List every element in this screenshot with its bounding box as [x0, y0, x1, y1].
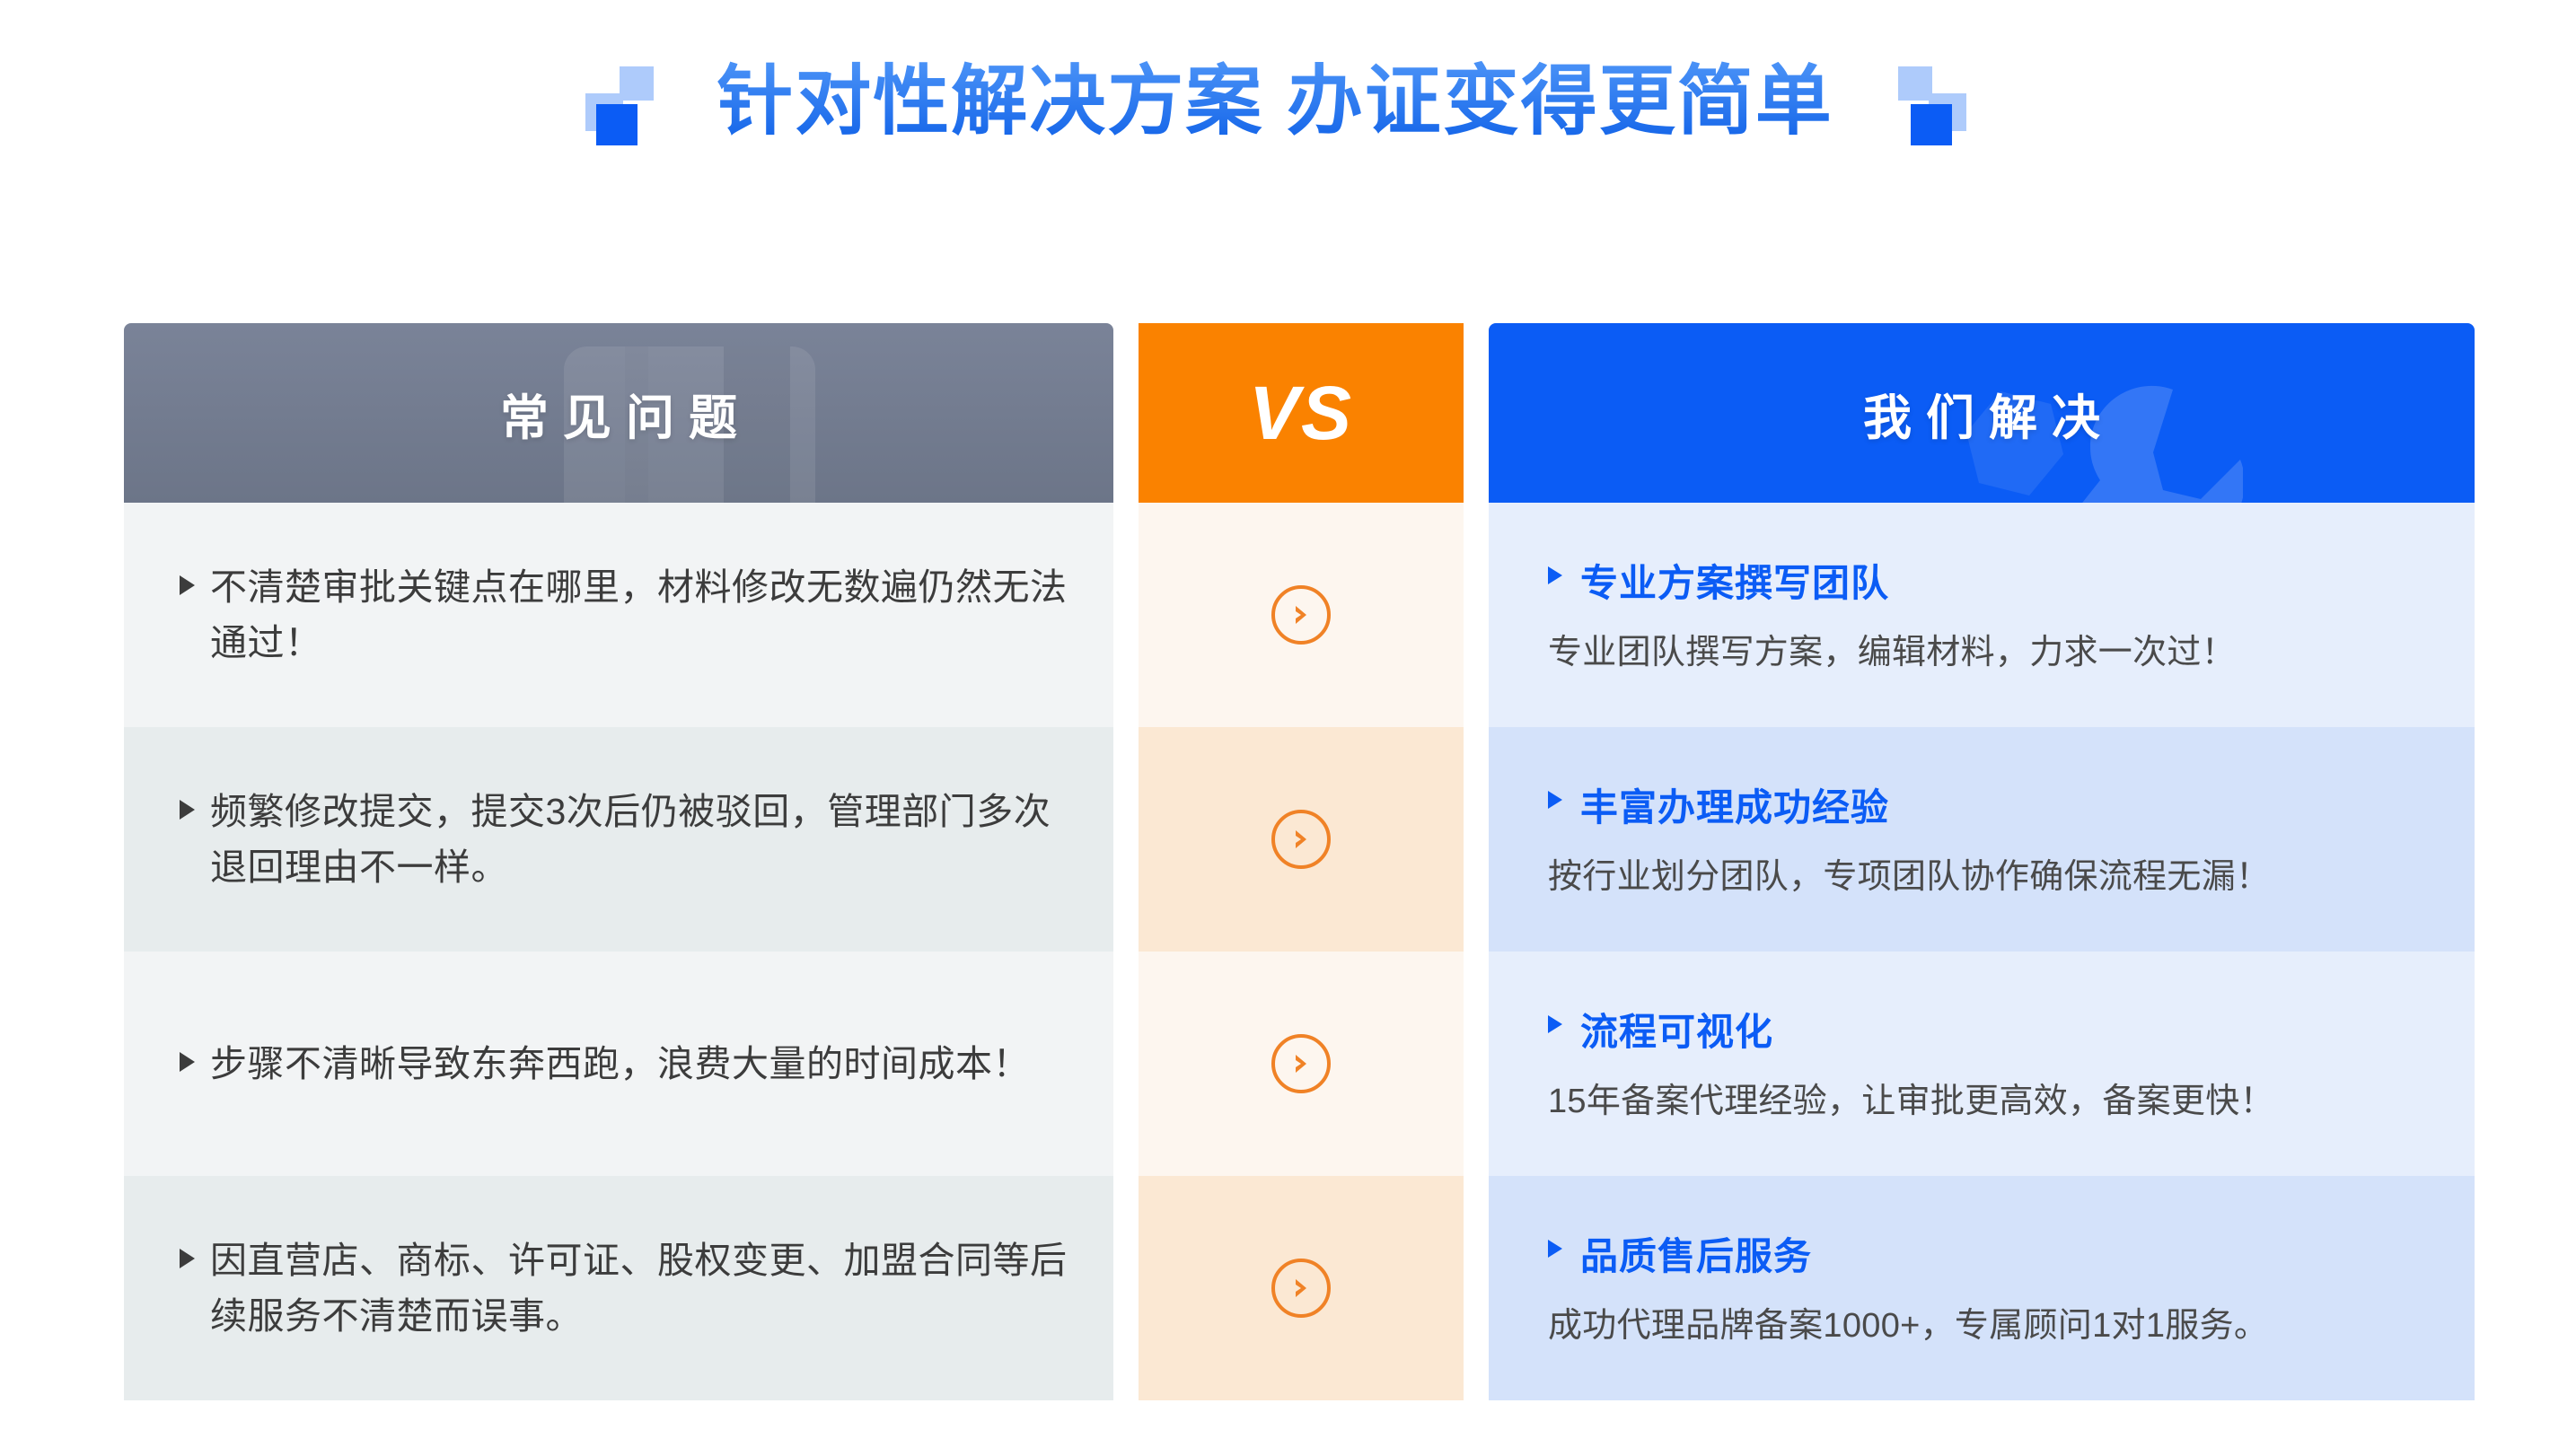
problem-row-text: 不清楚审批关键点在哪里，材料修改无数遍仍然无法通过！ — [180, 559, 1072, 671]
solution-column-header-label: 我们解决 — [1849, 378, 2115, 449]
vs-row — [1139, 727, 1464, 952]
vs-column: VS — [1139, 323, 1464, 1400]
decor-square-pale-a — [1898, 66, 1932, 101]
problem-column-header-label: 常见问题 — [486, 378, 752, 449]
vs-label: VS — [1249, 370, 1353, 457]
problem-row: 频繁修改提交，提交3次后仍被驳回，管理部门多次退回理由不一样。 — [124, 727, 1113, 952]
chevron-right-circle-icon[interactable] — [1271, 585, 1331, 645]
vs-row — [1139, 1176, 1464, 1400]
problem-column-header: 常见问题 — [124, 323, 1113, 503]
comparison-table: 常见问题 不清楚审批关键点在哪里，材料修改无数遍仍然无法通过！ 频繁修改提交，提… — [124, 323, 2466, 1400]
problem-row-text: 频繁修改提交，提交3次后仍被驳回，管理部门多次退回理由不一样。 — [180, 784, 1072, 896]
solution-row: 品质售后服务 成功代理品牌备案1000+，专属顾问1对1服务。 — [1489, 1176, 2475, 1400]
promo-comparison-page: 针对性解决方案 办证变得更简单 常见问题 不清楚审批关键点在哪里，材料修改无数遍… — [0, 0, 2550, 1456]
problem-row: 不清楚审批关键点在哪里，材料修改无数遍仍然无法通过！ — [124, 503, 1113, 727]
solution-row-desc: 15年备案代理经验，让审批更高效，备案更快！ — [1548, 1078, 2274, 1126]
chevron-right-circle-icon[interactable] — [1271, 810, 1331, 869]
decor-square-pale-a — [620, 66, 654, 101]
decor-square-solid — [1911, 104, 1952, 145]
vs-row — [1139, 503, 1464, 727]
problem-column: 常见问题 不清楚审批关键点在哪里，材料修改无数遍仍然无法通过！ 频繁修改提交，提… — [124, 323, 1113, 1400]
solution-column-header: 我们解决 — [1489, 323, 2475, 503]
solution-column: 我们解决 专业方案撰写团队 专业团队撰写方案，编辑材料，力求一次过！ 丰富办理成… — [1489, 323, 2475, 1400]
column-gutter — [1464, 323, 1489, 1400]
solution-row-title: 丰富办理成功经验 — [1548, 777, 1889, 832]
solution-row: 丰富办理成功经验 按行业划分团队，专项团队协作确保流程无漏！ — [1489, 727, 2475, 952]
decor-square-solid — [596, 104, 637, 145]
problem-row-text: 因直营店、商标、许可证、股权变更、加盟合同等后续服务不清楚而误事。 — [180, 1232, 1072, 1345]
solution-row-desc: 专业团队撰写方案，编辑材料，力求一次过！ — [1548, 629, 2236, 677]
vs-column-header: VS — [1139, 323, 1464, 503]
solution-row-desc: 按行业划分团队，专项团队协作确保流程无漏！ — [1548, 854, 2270, 901]
solution-row-desc: 成功代理品牌备案1000+，专属顾问1对1服务。 — [1548, 1303, 2268, 1350]
page-title-band: 针对性解决方案 办证变得更简单 — [0, 48, 2550, 156]
chevron-right-circle-icon[interactable] — [1271, 1259, 1331, 1318]
problem-row-text: 步骤不清晰导致东奔西跑，浪费大量的时间成本！ — [180, 1036, 1030, 1092]
vs-row — [1139, 952, 1464, 1176]
page-title: 针对性解决方案 办证变得更简单 — [717, 60, 1833, 145]
solution-row: 流程可视化 15年备案代理经验，让审批更高效，备案更快！ — [1489, 952, 2475, 1176]
solution-row-title: 专业方案撰写团队 — [1548, 553, 1889, 608]
problem-row: 因直营店、商标、许可证、股权变更、加盟合同等后续服务不清楚而误事。 — [124, 1176, 1113, 1400]
column-gutter — [1113, 323, 1139, 1400]
decor-squares-right-icon — [1887, 56, 1986, 149]
solution-row-title: 品质售后服务 — [1548, 1226, 1812, 1281]
chevron-right-circle-icon[interactable] — [1271, 1034, 1331, 1093]
decor-squares-left-icon — [564, 56, 663, 149]
problem-row: 步骤不清晰导致东奔西跑，浪费大量的时间成本！ — [124, 952, 1113, 1176]
solution-row: 专业方案撰写团队 专业团队撰写方案，编辑材料，力求一次过！ — [1489, 503, 2475, 727]
solution-row-title: 流程可视化 — [1548, 1002, 1773, 1057]
